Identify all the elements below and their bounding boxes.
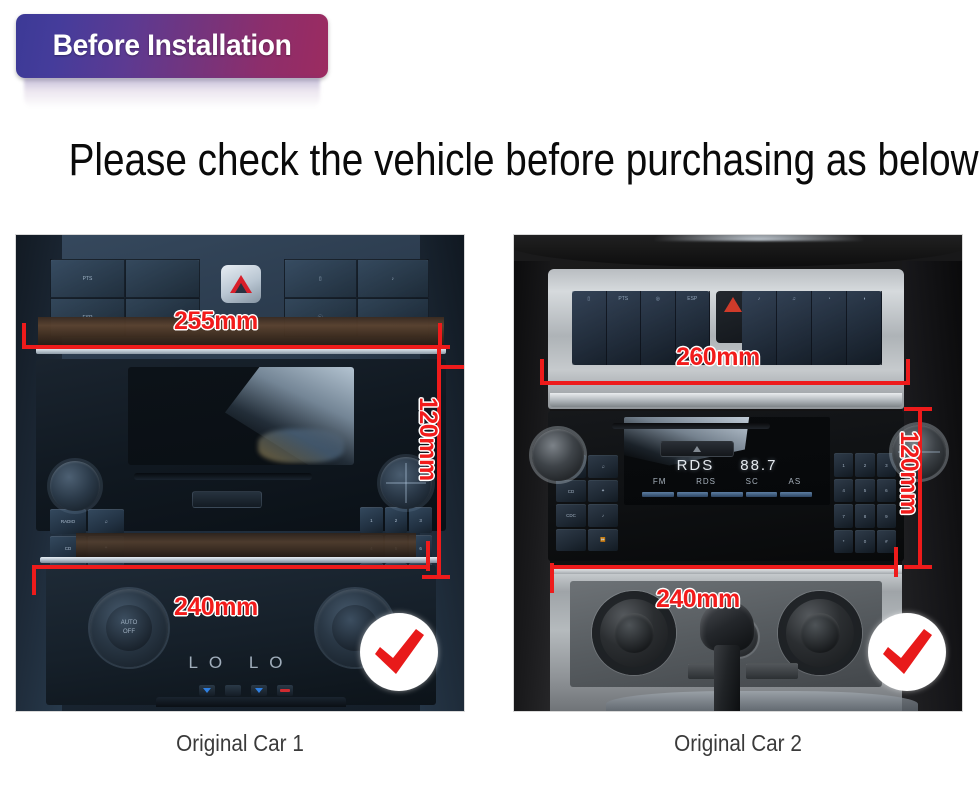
keypad-key: 3 <box>409 507 432 533</box>
climate-button <box>225 685 241 696</box>
keypad-key: 5 <box>855 479 874 503</box>
head-unit-key: ⏩ <box>588 529 618 552</box>
head-unit-key: CDC <box>556 504 586 527</box>
navigation-dpad-knob <box>380 457 432 509</box>
console-base <box>606 691 918 711</box>
switch-button <box>125 259 200 298</box>
head-unit-key: RADIO <box>50 509 86 534</box>
preset-segment <box>677 492 709 497</box>
screen-glare-secondary <box>258 429 344 463</box>
cd-slot <box>134 473 312 480</box>
preset-segment <box>746 492 778 497</box>
keypad-key: 2 <box>385 507 408 533</box>
climate-off-label: OFF <box>123 628 135 637</box>
check-badge-1 <box>360 613 438 691</box>
gear-shift-lever <box>700 601 754 711</box>
keypad-key: 8 <box>855 504 874 528</box>
status-sc: SC <box>746 477 759 486</box>
hazard-triangle-icon <box>221 265 261 303</box>
before-installation-badge: Before Installation <box>16 14 328 78</box>
cd-eject-button <box>192 491 262 508</box>
climate-button <box>251 685 267 696</box>
switch-button: ▯ <box>572 291 607 365</box>
climate-auto-label: AUTO <box>121 619 138 628</box>
shift-stem <box>714 645 740 711</box>
keypad-key: 6 <box>877 479 896 503</box>
caption-car-2: Original Car 2 <box>536 730 941 757</box>
chrome-strip-upper <box>36 347 446 354</box>
car-2-dashboard-photo: ▯ PTS ◎ ESP ♪ ♫ ◔ ◑ RDS 88.7 <box>514 235 962 711</box>
dpad-cross-icon <box>380 457 432 509</box>
keypad-key: 9 <box>877 504 896 528</box>
dashboard-highlight <box>654 235 864 241</box>
radio-display-status-line: FM RDS SC AS <box>638 477 816 486</box>
navigation-dpad-knob <box>892 425 946 479</box>
climate-button <box>199 685 215 696</box>
caption-car-1: Original Car 1 <box>38 730 443 757</box>
preset-segment <box>642 492 674 497</box>
head-unit-key: ♪ <box>588 504 618 527</box>
head-unit-key <box>556 529 586 552</box>
head-unit-2: RDS 88.7 FM RDS SC AS RADIO <box>548 411 904 561</box>
keypad-key: 1 <box>360 507 383 533</box>
car-photo-panel-2: ▯ PTS ◎ ESP ♪ ♫ ◔ ◑ RDS 88.7 <box>513 234 963 712</box>
head-unit-key: ✦ <box>588 480 618 503</box>
keypad-key: 2 <box>855 453 874 477</box>
switch-button: ESP <box>676 291 711 365</box>
climate-button <box>277 685 293 696</box>
car-1-dashboard-photo: PTS ESP ▯ ♪ ⓒ RADIO ♫ CD <box>16 235 464 711</box>
climate-button-row <box>166 683 326 697</box>
eject-triangle-icon <box>693 446 701 452</box>
badge-reflection <box>24 78 320 108</box>
head-unit-key: ♫ <box>88 509 124 534</box>
upper-silver-bezel: ▯ PTS ◎ ESP ♪ ♫ ◔ ◑ <box>548 269 904 409</box>
page-headline: Please check the vehicle before purchasi… <box>69 132 912 188</box>
climate-knob-left-face: AUTO OFF <box>106 605 152 651</box>
rds-label: RDS <box>677 457 715 474</box>
frequency-value: 88.7 <box>740 457 777 474</box>
check-icon <box>879 627 935 677</box>
head-unit-key: ♫ <box>588 455 618 478</box>
keypad-key: 4 <box>834 479 853 503</box>
switch-button: ◎ <box>641 291 676 365</box>
wood-trim-upper <box>38 317 444 347</box>
volume-knob <box>532 429 584 481</box>
car-photo-panel-1: PTS ESP ▯ ♪ ⓒ RADIO ♫ CD <box>15 234 465 712</box>
climate-knob-right-face <box>800 613 840 653</box>
cd-eject-button <box>660 441 734 457</box>
check-icon <box>371 627 427 677</box>
radio-preset-bar <box>642 492 812 497</box>
chrome-strip-lower <box>40 557 440 563</box>
shift-knob <box>700 601 754 651</box>
switch-button: ♪ <box>742 291 777 365</box>
status-as: AS <box>788 477 801 486</box>
dashboard-left-bolster <box>514 261 550 711</box>
badge-label: Before Installation <box>53 29 292 63</box>
keypad-key: # <box>877 530 896 554</box>
wood-trim-lower <box>76 533 416 559</box>
switch-button: ◔ <box>812 291 847 365</box>
switch-button: PTS <box>50 259 125 298</box>
badge-body: Before Installation <box>16 14 328 78</box>
check-badge-2 <box>868 613 946 691</box>
keypad-key: * <box>834 530 853 554</box>
keypad-key: 7 <box>834 504 853 528</box>
preset-segment <box>711 492 743 497</box>
left-switch-bank: ▯ PTS ◎ ESP <box>572 291 710 365</box>
switch-button: ◑ <box>847 291 882 365</box>
climate-knob-left <box>592 591 676 675</box>
head-unit-keypad: 1 2 3 4 5 6 7 8 9 * 0 # <box>834 453 896 553</box>
right-switch-bank: ♪ ♫ ◔ ◑ <box>742 291 882 365</box>
climate-knob-left-face <box>614 613 654 653</box>
radio-display-screen <box>128 367 354 465</box>
preset-segment <box>780 492 812 497</box>
volume-knob <box>50 461 100 511</box>
keypad-key: 0 <box>855 530 874 554</box>
radio-display-screen: RDS 88.7 FM RDS SC AS <box>624 417 830 505</box>
cd-slot <box>612 423 770 429</box>
status-rds: RDS <box>696 477 716 486</box>
switch-button: ♫ <box>777 291 812 365</box>
status-fm: FM <box>653 477 667 486</box>
dpad-cross-icon <box>892 425 946 479</box>
switch-button: ▯ <box>284 259 357 298</box>
triangle-shape <box>724 297 742 312</box>
radio-display-main-line: RDS 88.7 <box>624 457 830 474</box>
triangle-inner-shape <box>235 283 247 293</box>
keypad-key: 1 <box>834 453 853 477</box>
head-unit-key: CD <box>556 480 586 503</box>
switch-button: ♪ <box>357 259 430 298</box>
lower-vent <box>156 697 346 707</box>
switch-button: PTS <box>607 291 642 365</box>
